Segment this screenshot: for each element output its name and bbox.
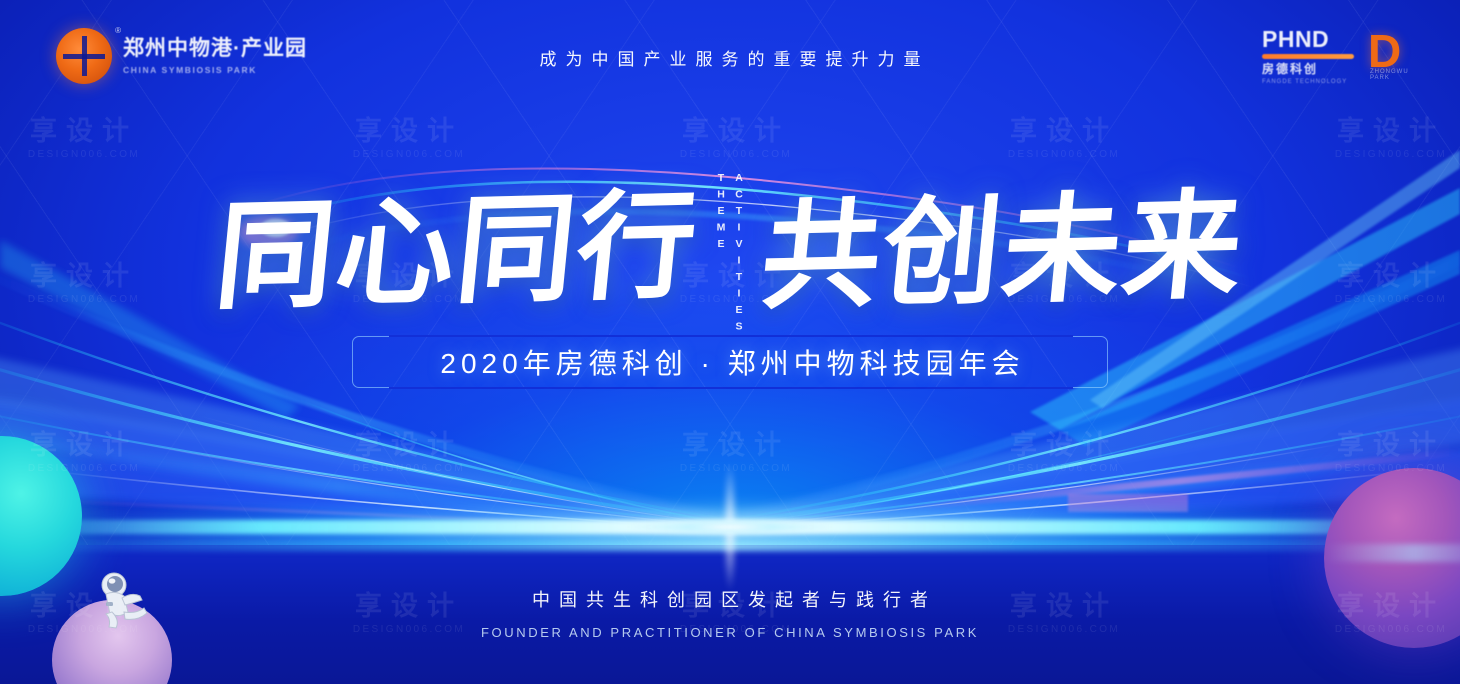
watermark-cn: 享设计 [20, 118, 148, 145]
watermark-cn: 享设计 [1327, 118, 1455, 145]
top-slogan: 成为中国产业服务的重要提升力量 [0, 45, 1460, 70]
theme-vertical-labels: THEME ACTIVITIES [715, 166, 745, 337]
footer-text-cn: 中国共生科创园区发起者与践行者 [0, 586, 1460, 612]
watermark-en: DESIGN006.COM [1000, 464, 1128, 474]
theme-label-theme: THEME [715, 172, 727, 255]
title-right-text: 共创未来 [757, 186, 1250, 316]
watermark-tile: 享设计DESIGN006.COM [1000, 118, 1128, 160]
subtitle-text: 2020年房德科创 · 郑州中物科技园年会 [417, 342, 1042, 382]
watermark-tile: 享设计DESIGN006.COM [1327, 118, 1455, 160]
partner-logos-right[interactable]: PHND 房德科创 FANGDE TECHNOLOGY D ZHONGWU PA… [1262, 28, 1424, 80]
title-left-text: 同心同行 [211, 186, 704, 316]
watermark-cn: 享设计 [1327, 432, 1455, 459]
watermark-cn: 享设计 [345, 432, 473, 459]
subtitle-frame: 2020年房德科创 · 郑州中物科技园年会 [352, 336, 1108, 388]
brand-d-logo[interactable]: D ZHONGWU PARK [1368, 28, 1424, 80]
watermark-tile: 享设计DESIGN006.COM [1327, 432, 1455, 474]
poster-canvas: 享设计DESIGN006.COM享设计DESIGN006.COM享设计DESIG… [0, 0, 1460, 684]
watermark-en: DESIGN006.COM [20, 150, 148, 160]
watermark-cn: 享设计 [672, 118, 800, 145]
watermark-tile: 享设计DESIGN006.COM [1000, 432, 1128, 474]
watermark-en: DESIGN006.COM [1000, 150, 1128, 160]
brand-phnd-logo[interactable]: PHND 房德科创 FANGDE TECHNOLOGY [1262, 28, 1354, 80]
brand-phnd-sub: FANGDE TECHNOLOGY [1262, 79, 1354, 85]
watermark-tile: 享设计DESIGN006.COM [20, 118, 148, 160]
trademark-icon: ® [115, 26, 121, 35]
watermark-en: DESIGN006.COM [672, 150, 800, 160]
brand-d-mark-icon: D [1368, 28, 1424, 74]
watermark-tile: 享设计DESIGN006.COM [345, 432, 473, 474]
watermark-en: DESIGN006.COM [1327, 150, 1455, 160]
theme-label-activities: ACTIVITIES [733, 172, 745, 337]
brand-phnd-en: PHND [1262, 28, 1354, 51]
brand-swoosh-icon [1262, 54, 1354, 59]
center-light-burst [580, 472, 880, 582]
footer-block: 中国共生科创园区发起者与践行者 FOUNDER AND PRACTITIONER… [0, 586, 1460, 640]
watermark-cn: 享设计 [1000, 118, 1128, 145]
brand-d-sub: ZHONGWU PARK [1370, 69, 1424, 81]
brand-phnd-cn: 房德科创 [1262, 63, 1354, 75]
footer-text-en: FOUNDER AND PRACTITIONER OF CHINA SYMBIO… [0, 625, 1460, 640]
watermark-tile: 享设计DESIGN006.COM [672, 118, 800, 160]
watermark-en: DESIGN006.COM [345, 464, 473, 474]
watermark-cn: 享设计 [345, 118, 473, 145]
main-title: 同心同行 THEME ACTIVITIES 共创未来 [0, 176, 1460, 326]
watermark-cn: 享设计 [1000, 432, 1128, 459]
watermark-en: DESIGN006.COM [345, 150, 473, 160]
watermark-tile: 享设计DESIGN006.COM [345, 118, 473, 160]
